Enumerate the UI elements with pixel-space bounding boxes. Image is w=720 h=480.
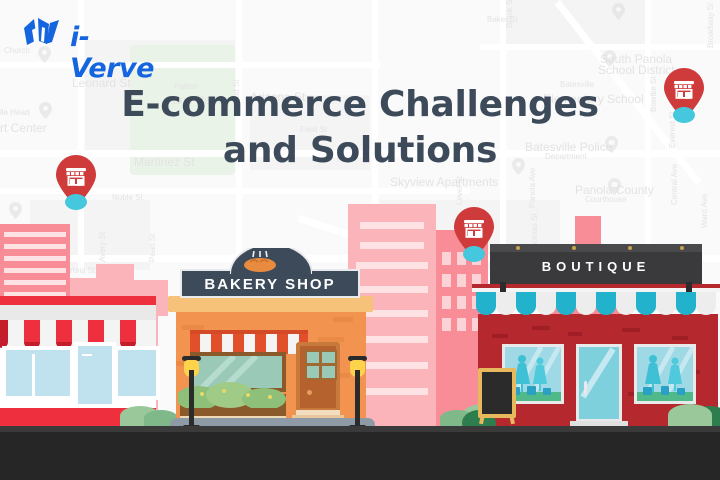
shop-door[interactable] xyxy=(74,342,116,408)
map-label: Courthouse xyxy=(585,195,626,205)
boutique-window-right xyxy=(634,344,696,404)
poster-canvas: ChurchLeonard StPattonLane Parklle Headr… xyxy=(0,0,720,480)
street-lamp xyxy=(182,356,202,430)
pin-base-dot xyxy=(65,194,87,210)
map-label: Noble St xyxy=(112,193,143,203)
title-line-1: E-commerce Challenges xyxy=(60,82,660,128)
boutique-sign-text: BOUTIQUE xyxy=(490,259,702,274)
bakery-sign-text: BAKERY SHOP xyxy=(182,276,358,293)
map-label: rt Center xyxy=(0,121,47,135)
map-label-vertical: Central Ave xyxy=(670,164,680,205)
map-poi-icon xyxy=(612,3,625,20)
bread-loaf-icon xyxy=(238,251,282,273)
map-label-vertical: Broadway St xyxy=(706,3,716,48)
map-road xyxy=(0,62,380,68)
city-scene: BAKERY SHOP xyxy=(0,220,720,480)
boutique-door[interactable] xyxy=(576,344,622,422)
map-poi-icon xyxy=(9,202,22,219)
boutique-sign: BOUTIQUE xyxy=(490,250,702,284)
map-poi-icon xyxy=(608,178,621,195)
street-lamp xyxy=(348,356,368,430)
map-label: Skyview Apartments xyxy=(390,175,498,189)
map-road xyxy=(480,44,720,50)
curb xyxy=(0,426,720,432)
pin-base-dot xyxy=(463,246,485,262)
map-pin-left[interactable] xyxy=(56,155,96,210)
brand-logo[interactable]: i-Verve xyxy=(18,14,168,58)
brand-name: i-Verve xyxy=(70,22,168,84)
map-poi-icon xyxy=(603,50,616,67)
map-label-vertical: Brook St xyxy=(505,0,515,28)
map-label-vertical: Level St xyxy=(455,176,465,205)
road xyxy=(0,426,720,480)
map-poi-icon xyxy=(39,102,52,119)
map-pin-right[interactable] xyxy=(664,68,704,123)
title-line-2: and Solutions xyxy=(60,128,660,174)
bakery-cornice xyxy=(168,296,373,312)
pin-base-dot xyxy=(673,107,695,123)
page-title: E-commerce Challenges and Solutions xyxy=(60,82,660,174)
bush xyxy=(668,404,712,426)
shop-window xyxy=(114,346,160,400)
chalkboard-sign-icon[interactable] xyxy=(478,368,516,424)
shop-window xyxy=(2,346,74,400)
bakery-door[interactable] xyxy=(296,342,340,412)
map-pin-mid[interactable] xyxy=(454,207,494,262)
boutique-awning xyxy=(472,290,720,322)
iv-logo-icon xyxy=(18,14,68,54)
map-label: lle Head xyxy=(0,108,29,118)
